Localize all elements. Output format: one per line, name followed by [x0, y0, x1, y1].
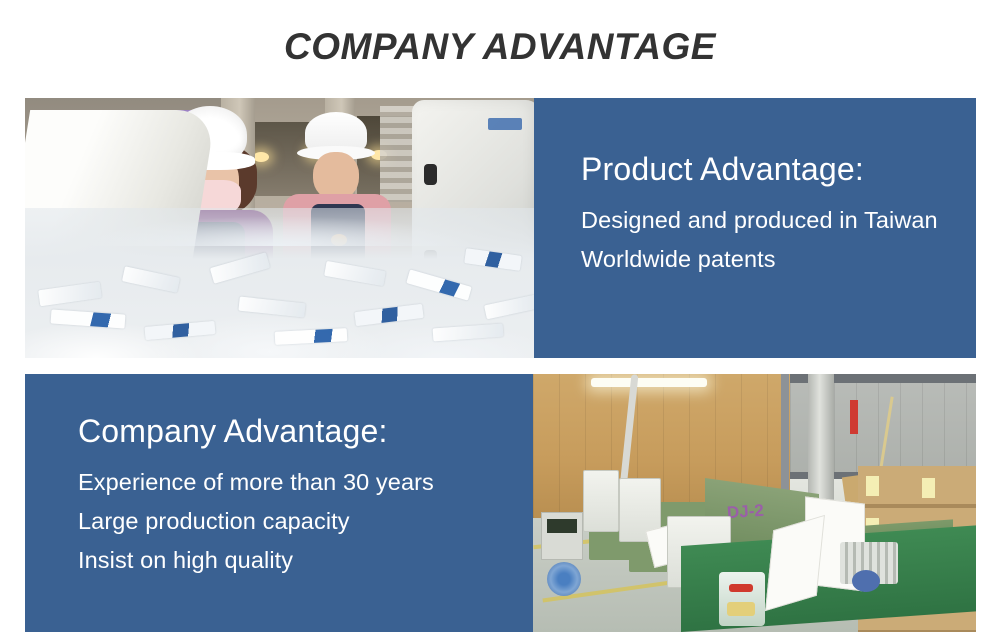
product-advantage-heading: Product Advantage:: [581, 152, 976, 187]
photo-package: [433, 324, 504, 342]
photo-blue-motor: [852, 570, 880, 592]
photo-package: [406, 269, 471, 300]
photo-bag-red-item: [729, 584, 753, 592]
photo-box-label: [866, 476, 879, 496]
photo-package: [145, 321, 216, 340]
photo-ceiling-light: [591, 378, 707, 387]
photo-bin-latch: [424, 164, 437, 185]
factory-packing-photo: [25, 98, 534, 358]
photo-bag-yellow-item: [727, 602, 755, 616]
photo-package: [122, 266, 180, 292]
advantage-page: COMPANY ADVANTAGE: [0, 0, 1000, 632]
photo-package: [51, 309, 126, 328]
photo-dj2-label-upper: DJ-2: [726, 501, 764, 524]
company-advantage-heading: Company Advantage:: [78, 414, 533, 449]
photo-package: [210, 252, 270, 283]
photo-box-label: [922, 478, 935, 498]
page-title: COMPANY ADVANTAGE: [0, 26, 1000, 68]
photo-package: [275, 328, 348, 345]
company-advantage-block: Company Advantage: Experience of more th…: [25, 374, 976, 632]
photo-control-cabinet: [583, 470, 619, 532]
photo-product-pile: [25, 208, 534, 358]
product-advantage-line-1: Designed and produced in Taiwan: [581, 201, 976, 240]
photo-package: [464, 248, 522, 271]
photo-package: [354, 304, 423, 326]
photo-blower-fan: [547, 562, 581, 596]
company-advantage-text-panel: Company Advantage: Experience of more th…: [25, 374, 533, 632]
product-advantage-text-panel: Product Advantage: Designed and produced…: [534, 98, 976, 358]
product-advantage-block: Product Advantage: Designed and produced…: [25, 98, 976, 358]
photo-bin-logo: [488, 118, 522, 130]
photo-red-tag: [850, 400, 858, 434]
company-advantage-line-3: Insist on high quality: [78, 541, 533, 580]
photo-product-bag: [719, 572, 765, 626]
product-advantage-line-2: Worldwide patents: [581, 240, 976, 279]
company-advantage-line-2: Large production capacity: [78, 502, 533, 541]
factory-machinery-photo: DJ-2 DJ-2: [533, 374, 976, 632]
photo-package: [238, 297, 305, 318]
photo-package: [38, 282, 102, 306]
company-advantage-line-1: Experience of more than 30 years: [78, 463, 533, 502]
photo-control-panel: [541, 512, 583, 560]
photo-package: [324, 261, 386, 286]
photo-package: [484, 295, 534, 320]
